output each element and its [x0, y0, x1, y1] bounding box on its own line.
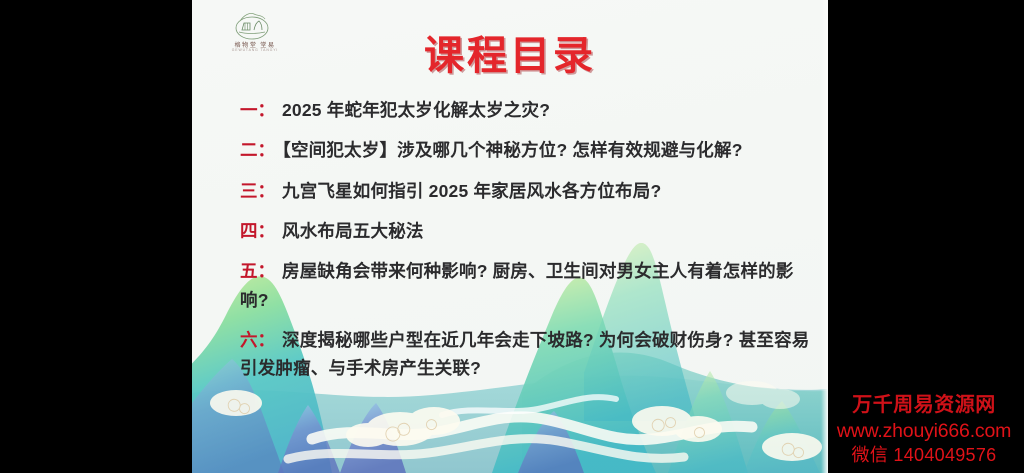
item-text: 房屋缺角会带来何种影响? 厨房、卫生间对男女主人有着怎样的影响?	[240, 261, 794, 309]
page-title: 课程目录	[192, 36, 828, 76]
list-item: 三：九宫飞星如何指引 2025 年家居风水各方位布局?	[240, 177, 815, 205]
watermark: 万千周易资源网 www.zhouyi666.com 微信 1404049576	[828, 393, 1020, 467]
presentation-slide: 格物堂 堂易 GEWUTANG TANGYI 课程目录 一：2025 年蛇年犯太…	[192, 0, 828, 473]
list-item: 六：深度揭秘哪些户型在近几年会走下坡路? 为何会破财伤身? 甚至容易引发肿瘤、与…	[240, 326, 815, 383]
watermark-url: www.zhouyi666.com	[828, 419, 1020, 444]
watermark-site-name: 万千周易资源网	[828, 393, 1020, 419]
item-number: 三：	[240, 181, 275, 201]
item-text: 风水布局五大秘法	[282, 221, 424, 241]
item-text: 九宫飞星如何指引 2025 年家居风水各方位布局?	[282, 181, 661, 201]
item-number: 五：	[240, 261, 275, 281]
course-contents-list: 一：2025 年蛇年犯太岁化解太岁之灾? 二：【空间犯太岁】涉及哪几个神秘方位?…	[240, 96, 815, 395]
item-text: 【空间犯太岁】涉及哪几个神秘方位? 怎样有效规避与化解?	[282, 140, 743, 160]
list-item: 二：【空间犯太岁】涉及哪几个神秘方位? 怎样有效规避与化解?	[240, 136, 815, 164]
screenshot-root: 格物堂 堂易 GEWUTANG TANGYI 课程目录 一：2025 年蛇年犯太…	[0, 0, 1024, 473]
list-item: 五：房屋缺角会带来何种影响? 厨房、卫生间对男女主人有着怎样的影响?	[240, 257, 815, 314]
watermark-wechat: 微信 1404049576	[828, 444, 1020, 467]
item-text: 深度揭秘哪些户型在近几年会走下坡路? 为何会破财伤身? 甚至容易引发肿瘤、与手术…	[240, 330, 810, 378]
item-number: 一：	[240, 100, 275, 120]
item-number: 四：	[240, 221, 275, 241]
item-number: 六：	[240, 330, 275, 350]
item-number: 二：	[240, 140, 275, 160]
list-item: 四：风水布局五大秘法	[240, 217, 815, 245]
item-text: 2025 年蛇年犯太岁化解太岁之灾?	[282, 100, 550, 120]
list-item: 一：2025 年蛇年犯太岁化解太岁之灾?	[240, 96, 815, 124]
